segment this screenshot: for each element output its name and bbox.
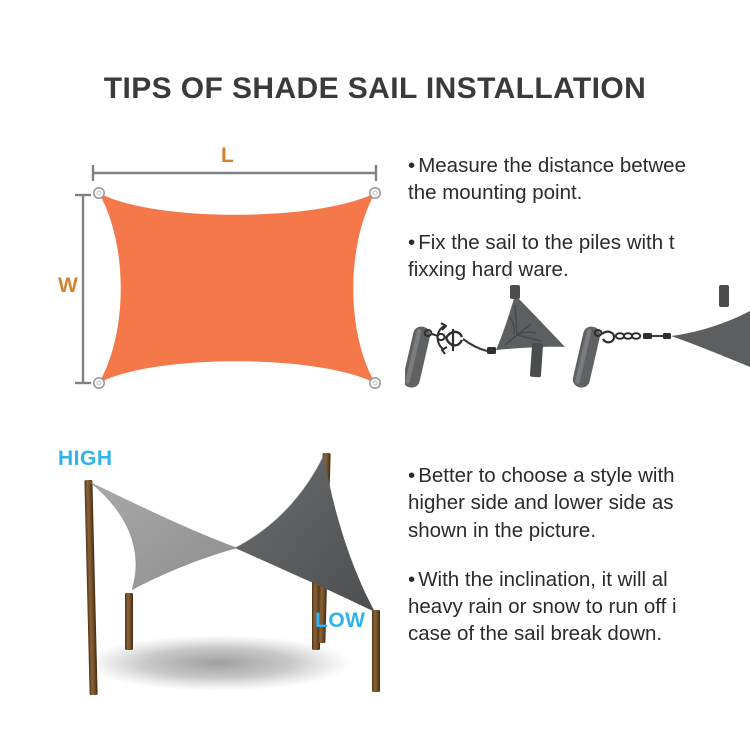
low-side-label: LOW <box>315 610 365 631</box>
mounting-pole-icon <box>571 325 602 389</box>
tip-line-text: With the inclination, it will al <box>418 568 668 591</box>
length-label: L <box>221 145 234 166</box>
tips-list-bottom: •Better to choose a style with higher si… <box>408 462 750 648</box>
tip-line-text: case of the sail break down. <box>408 620 750 647</box>
bullet-icon: • <box>408 464 415 487</box>
bullet-icon: • <box>408 231 415 254</box>
bullet-icon: • <box>408 568 415 591</box>
sail-corner-shape <box>671 311 750 367</box>
tip-item: •Measure the distance betwee the mountin… <box>408 152 750 207</box>
tip-line-text: Measure the distance betwee <box>418 154 686 177</box>
infographic-page: TIPS OF SHADE SAIL INSTALLATION <box>0 0 750 750</box>
chain-mount-illustration <box>571 285 750 389</box>
page-title: TIPS OF SHADE SAIL INSTALLATION <box>0 72 750 106</box>
tip-line-text: heavy rain or snow to run off i <box>408 593 750 620</box>
mounting-pole-icon <box>405 325 432 389</box>
tips-list-top: •Measure the distance betwee the mountin… <box>408 152 750 283</box>
tip-line: •Measure the distance betwee <box>408 152 750 179</box>
turnbuckle-mount-illustration <box>405 285 565 389</box>
chain-links <box>616 333 640 339</box>
support-post-low <box>372 610 380 692</box>
tip-line: •Fix the sail to the piles with t <box>408 229 750 256</box>
hardware-svg <box>405 285 750 390</box>
support-post <box>125 593 133 650</box>
tip-line: •With the inclination, it will al <box>408 566 750 593</box>
tip-line-text: higher side and lower side as <box>408 489 750 516</box>
tip-line-text: shown in the picture. <box>408 517 750 544</box>
tip-line-text: the mounting point. <box>408 179 750 206</box>
sail-dimension-svg <box>58 140 403 405</box>
tip-line: •Better to choose a style with <box>408 462 750 489</box>
high-side-label: HIGH <box>58 448 113 469</box>
orange-sail-shape <box>99 193 375 383</box>
sail-corner-shape <box>496 295 565 350</box>
inclined-canopy-diagram: HIGH LOW <box>30 430 425 715</box>
sail-light-shape <box>90 482 238 590</box>
sail-dark-shape <box>235 455 375 612</box>
turnbuckle-icon <box>446 329 462 351</box>
tip-item: •Fix the sail to the piles with t fixxin… <box>408 229 750 284</box>
canopy-svg <box>30 430 425 715</box>
bullet-icon: • <box>408 154 415 177</box>
hardware-illustrations <box>405 285 750 390</box>
tip-line-text: fixxing hard ware. <box>408 256 750 283</box>
length-dimension-line <box>93 165 376 181</box>
tip-line-text: Better to choose a style with <box>418 464 674 487</box>
tip-item: •Better to choose a style with higher si… <box>408 462 750 544</box>
tip-item: •With the inclination, it will al heavy … <box>408 566 750 648</box>
width-label: W <box>58 275 78 296</box>
tip-line-text: Fix the sail to the piles with t <box>418 231 674 254</box>
sail-dimension-diagram: L W <box>58 140 403 405</box>
